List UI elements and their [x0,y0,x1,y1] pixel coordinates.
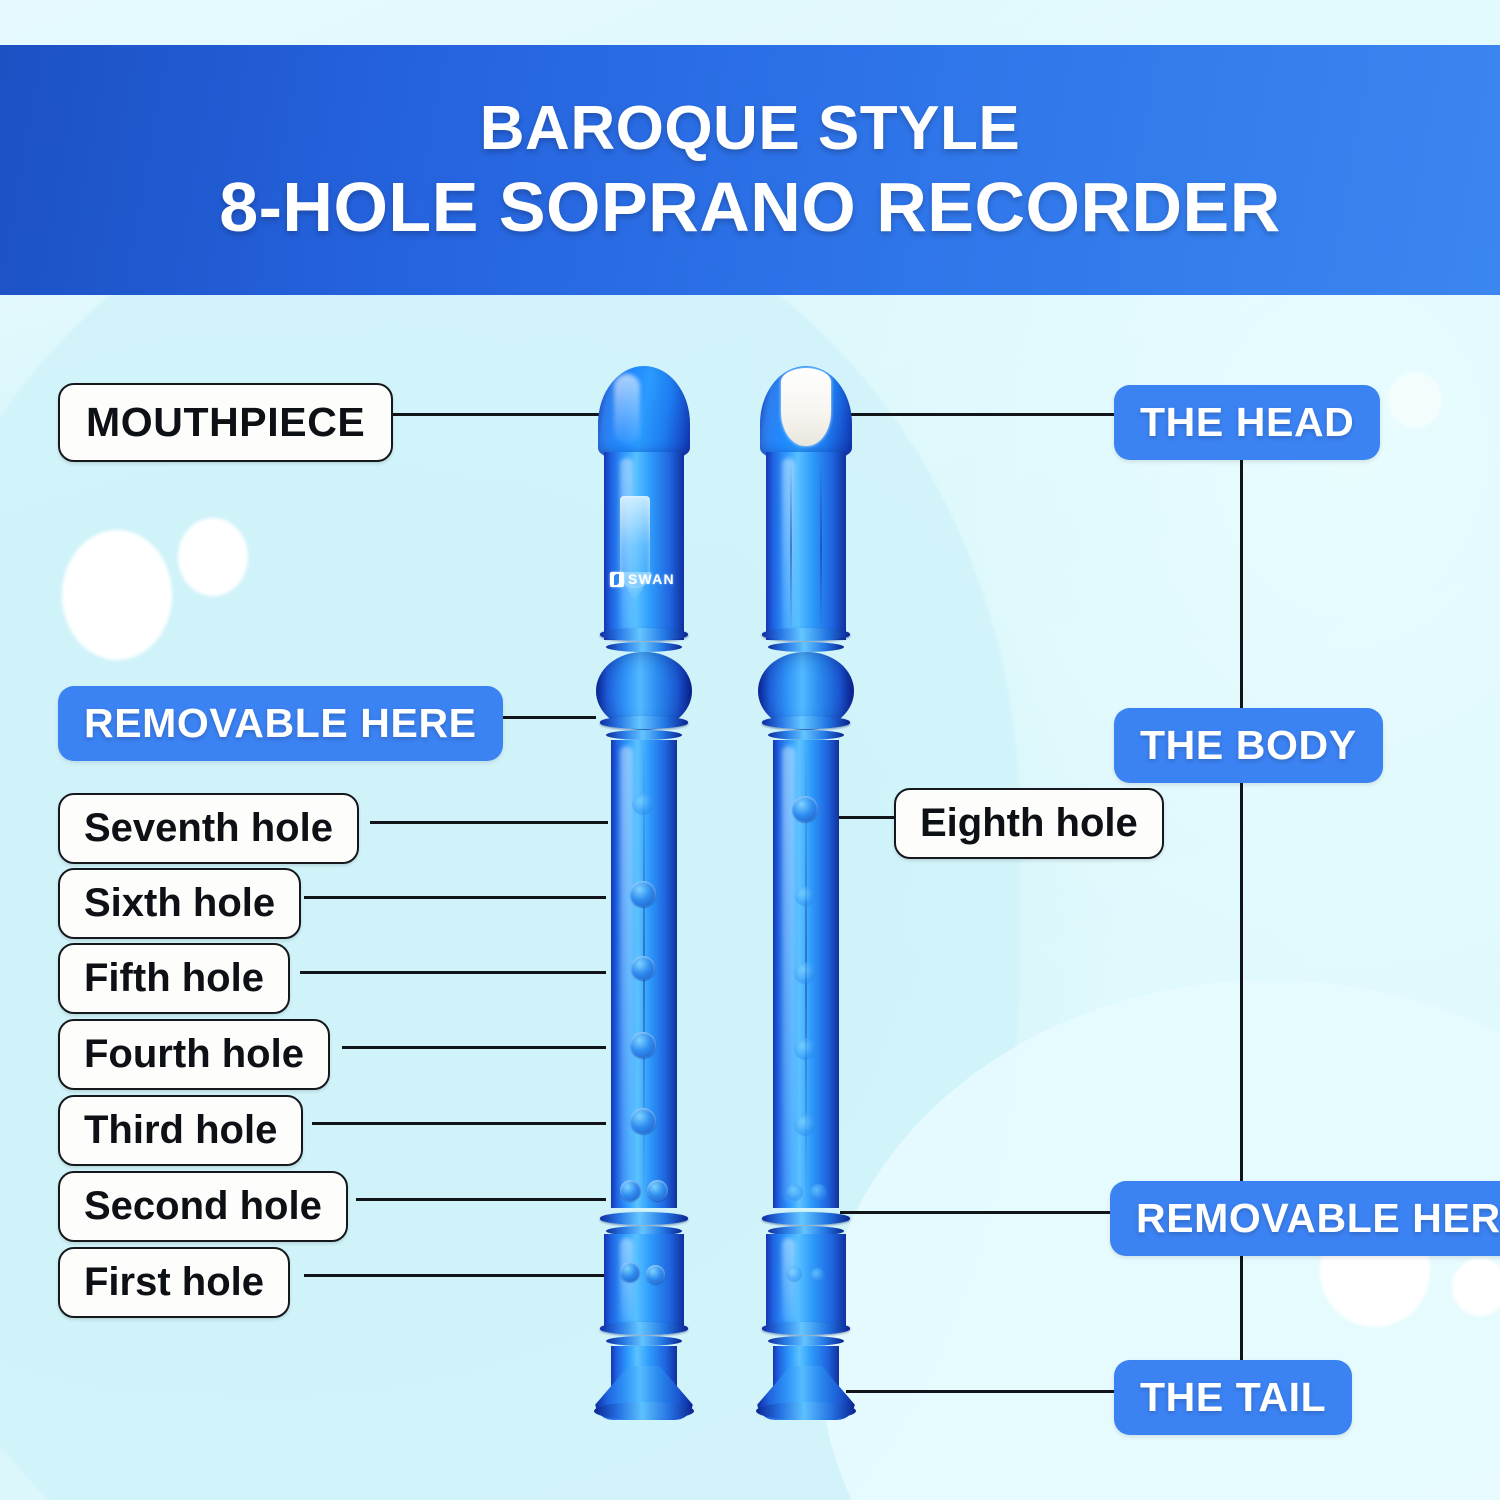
finger-hole-third [630,1108,656,1134]
leader-line-third-hole [312,1122,606,1125]
beak-highlight [614,374,640,444]
recorder-head-seam [820,462,822,632]
joint-ring [600,1212,688,1225]
joint-ring [606,642,682,652]
leader-line-removable-foot [840,1211,1112,1214]
banner-title-line-2: 8-HOLE SOPRANO RECORDER [219,171,1281,245]
callout-removable-here-foot-label: REMOVABLE HERE [1136,1195,1500,1242]
joint-ring [606,730,682,740]
recorder-beak-rear [760,366,852,458]
callout-removable-here-foot[interactable]: REMOVABLE HERE [1110,1181,1500,1256]
finger-hole-second-b [647,1180,668,1201]
hole-shadow [810,1268,825,1283]
header-banner: BAROQUE STYLE 8-HOLE SOPRANO RECORDER [0,45,1500,295]
callout-the-body-label: THE BODY [1140,722,1357,769]
callout-the-body[interactable]: THE BODY [1114,708,1383,783]
background-blob [1452,1258,1500,1316]
hole-shadow [795,886,815,906]
callout-removable-here-head[interactable]: REMOVABLE HERE [58,686,503,761]
hole-shadow [794,962,816,984]
callout-mouthpiece-label: MOUTHPIECE [86,399,365,446]
brand-name: SWAN [628,571,675,587]
leader-line-mouthpiece [378,413,600,416]
leader-line-sixth-hole [304,896,606,899]
callout-fifth-hole[interactable]: Fifth hole [58,943,290,1014]
joint-ring [768,642,844,652]
callout-sixth-hole[interactable]: Sixth hole [58,868,301,939]
joint-ring [768,1336,844,1346]
finger-hole-seventh [632,793,654,815]
joint-ring [762,1212,850,1225]
recorder-rear-view [760,366,852,1420]
thumb-hole-eighth [792,796,818,822]
leader-line-seventh-hole [370,821,608,824]
callout-third-hole[interactable]: Third hole [58,1095,303,1166]
recorder-body-highlight [620,746,633,1202]
finger-hole-first-a [620,1262,640,1282]
recorder-bell-lip [594,1402,694,1420]
swan-logo-icon [610,572,624,587]
recorder-head-highlight [782,458,795,634]
joint-ring [600,716,688,729]
callout-eighth-hole[interactable]: Eighth hole [894,788,1164,859]
hole-shadow [794,1038,816,1060]
hole-shadow [786,1184,803,1201]
hole-shadow [786,1266,802,1282]
recorder-front-view: SWAN [598,366,690,1420]
hole-shadow [794,1114,816,1136]
background-blob [62,530,172,660]
finger-hole-sixth [630,881,656,907]
beak-window [781,368,831,446]
callout-seventh-hole[interactable]: Seventh hole [58,793,359,864]
finger-hole-fifth [631,956,655,980]
callout-fifth-hole-label: Fifth hole [84,956,264,1001]
joint-ring [600,1322,688,1335]
recorder-beak-front [598,366,690,458]
recorder-foot-tube [766,1234,846,1326]
callout-fourth-hole-label: Fourth hole [84,1032,304,1077]
callout-sixth-hole-label: Sixth hole [84,881,275,926]
callout-the-head-label: THE HEAD [1140,399,1354,446]
finger-hole-first-b [646,1265,665,1284]
leader-line-removable-head [500,716,596,719]
joint-ring [768,730,844,740]
background-blob [1388,372,1442,428]
joint-ring [600,628,688,641]
callout-seventh-hole-label: Seventh hole [84,806,333,851]
joint-ring [762,716,850,729]
infographic-page: BAROQUE STYLE 8-HOLE SOPRANO RECORDER SW… [0,0,1500,1500]
callout-second-hole-label: Second hole [84,1184,322,1229]
callout-fourth-hole[interactable]: Fourth hole [58,1019,330,1090]
finger-hole-second-a [620,1180,641,1201]
background-blob [178,518,248,596]
leader-line-fifth-hole [300,971,606,974]
leader-line-second-hole [356,1198,606,1201]
callout-the-tail[interactable]: THE TAIL [1114,1360,1352,1435]
recorder-bell-lip [756,1402,856,1420]
leader-line-fourth-hole [342,1046,606,1049]
leader-line-the-tail [846,1390,1114,1393]
callout-first-hole[interactable]: First hole [58,1247,290,1318]
callout-second-hole[interactable]: Second hole [58,1171,348,1242]
finger-hole-fourth [630,1032,656,1058]
leader-line-the-head [846,413,1118,416]
callout-eighth-hole-label: Eighth hole [920,801,1138,846]
recorder-foot-tube [604,1234,684,1326]
brand-logo: SWAN [610,571,675,587]
joint-ring [762,1322,850,1335]
joint-ring [762,628,850,641]
callout-the-head[interactable]: THE HEAD [1114,385,1380,460]
callout-the-tail-label: THE TAIL [1140,1374,1326,1421]
recorder-head-seam [790,462,792,632]
hole-shadow [810,1184,827,1201]
joint-ring [606,1336,682,1346]
callout-first-hole-label: First hole [84,1260,264,1305]
callout-mouthpiece[interactable]: MOUTHPIECE [58,383,393,462]
callout-third-hole-label: Third hole [84,1108,277,1153]
leader-line-first-hole [304,1274,606,1277]
recorder-head-tube [766,452,846,640]
callout-removable-here-head-label: REMOVABLE HERE [84,700,477,747]
banner-title-line-1: BAROQUE STYLE [480,96,1020,161]
